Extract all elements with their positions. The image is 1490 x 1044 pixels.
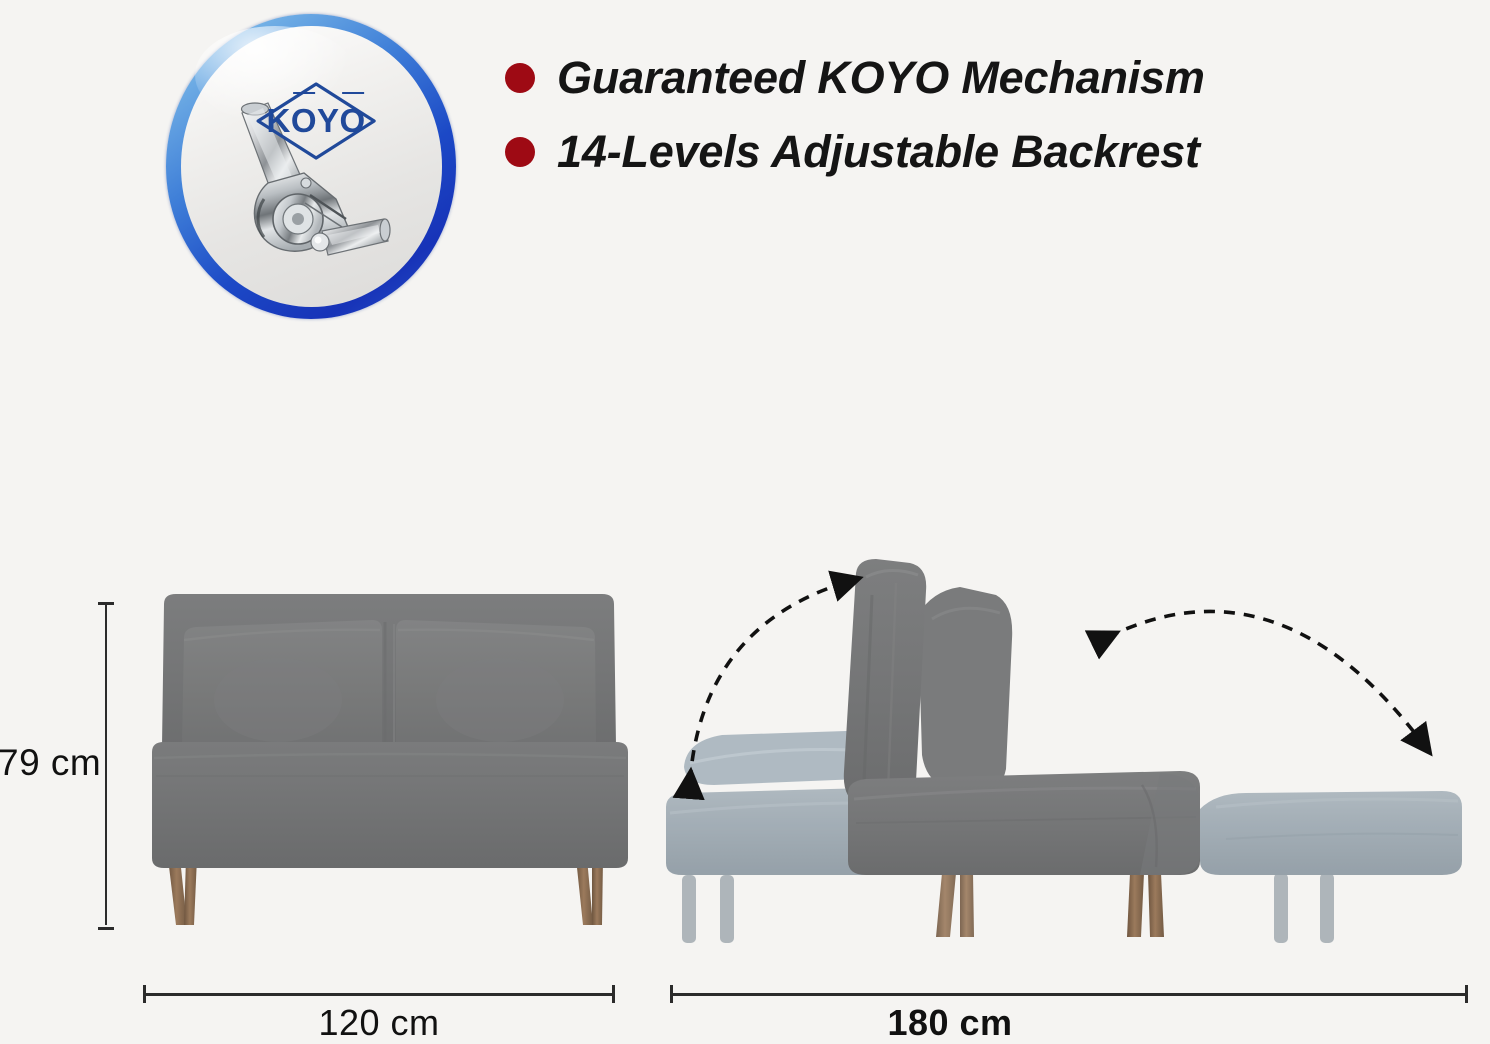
upright-backrest bbox=[844, 559, 926, 809]
sofa-bed-side-view bbox=[660, 555, 1480, 945]
dimension-shaft bbox=[670, 993, 1468, 996]
dimension-cap-bottom bbox=[98, 927, 114, 930]
feature-list: Guaranteed KOYO Mechanism 14-Levels Adju… bbox=[505, 52, 1325, 200]
feature-label: 14-Levels Adjustable Backrest bbox=[557, 126, 1200, 178]
sofa-front-view bbox=[140, 580, 640, 940]
bed-width-dimension-line bbox=[670, 985, 1468, 1003]
bullet-dot-icon bbox=[505, 63, 535, 93]
dimension-cap-right bbox=[1465, 985, 1468, 1003]
dimension-shaft bbox=[143, 993, 615, 996]
sofa-bed-center bbox=[844, 559, 1200, 937]
sofa-legs bbox=[168, 858, 603, 925]
sofa-width-dimension-label: 120 cm bbox=[143, 1002, 615, 1044]
feature-label: Guaranteed KOYO Mechanism bbox=[557, 52, 1205, 104]
infographic-canvas: KOYO Guaranteed KOYO Mechanism 14-Levels… bbox=[0, 0, 1490, 1042]
sofa-width-dimension-line bbox=[143, 985, 615, 1003]
bullet-dot-icon bbox=[505, 137, 535, 167]
dimension-cap-right bbox=[612, 985, 615, 1003]
dimension-shaft bbox=[105, 603, 107, 925]
height-dimension-label: 79 cm bbox=[0, 742, 101, 784]
koyo-quality-badge: KOYO bbox=[166, 14, 456, 319]
koyo-logo: KOYO bbox=[252, 80, 380, 162]
sofa-base bbox=[152, 742, 628, 868]
ghost-bed-right bbox=[1200, 791, 1462, 943]
feature-item: 14-Levels Adjustable Backrest bbox=[505, 126, 1325, 178]
motion-arrow-right bbox=[1108, 611, 1424, 745]
koyo-logo-text: KOYO bbox=[252, 80, 380, 162]
feature-item: Guaranteed KOYO Mechanism bbox=[505, 52, 1325, 104]
bed-width-dimension-label: 180 cm bbox=[670, 1002, 1230, 1044]
